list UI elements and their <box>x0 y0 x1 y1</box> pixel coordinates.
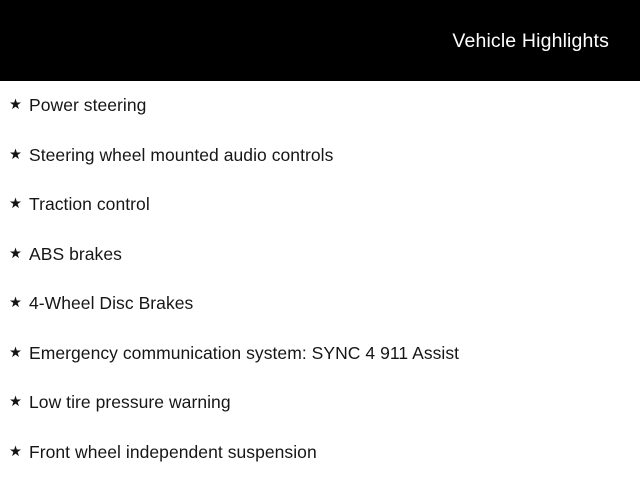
list-item: ★ 4-Wheel Disc Brakes <box>0 279 640 329</box>
list-item-label: Emergency communication system: SYNC 4 9… <box>29 345 459 363</box>
list-item: ★ Steering wheel mounted audio controls <box>0 131 640 181</box>
star-icon: ★ <box>9 296 29 311</box>
list-item: ★ Power steering <box>0 81 640 131</box>
star-icon: ★ <box>9 445 29 460</box>
star-icon: ★ <box>9 346 29 361</box>
list-item: ★ Traction control <box>0 180 640 230</box>
list-item: ★ Front wheel independent suspension <box>0 428 640 478</box>
star-icon: ★ <box>9 98 29 113</box>
list-item-label: Low tire pressure warning <box>29 394 231 412</box>
list-item-label: Traction control <box>29 196 150 214</box>
star-icon: ★ <box>9 395 29 410</box>
star-icon: ★ <box>9 247 29 262</box>
star-icon: ★ <box>9 197 29 212</box>
list-item-label: Steering wheel mounted audio controls <box>29 147 333 165</box>
list-item-label: 4-Wheel Disc Brakes <box>29 295 193 313</box>
star-icon: ★ <box>9 148 29 163</box>
list-item: ★ Low tire pressure warning <box>0 378 640 428</box>
list-item: ★ ABS brakes <box>0 230 640 280</box>
list-item-label: ABS brakes <box>29 246 122 264</box>
page-title: Vehicle Highlights <box>452 32 609 52</box>
list-item: ★ Emergency communication system: SYNC 4… <box>0 329 640 379</box>
vehicle-highlights-page: Vehicle Highlights ★ Power steering ★ St… <box>0 0 640 480</box>
list-item-label: Power steering <box>29 97 146 115</box>
page-header: Vehicle Highlights <box>0 0 640 81</box>
vehicle-highlights-list: ★ Power steering ★ Steering wheel mounte… <box>0 81 640 477</box>
list-item-label: Front wheel independent suspension <box>29 444 317 462</box>
